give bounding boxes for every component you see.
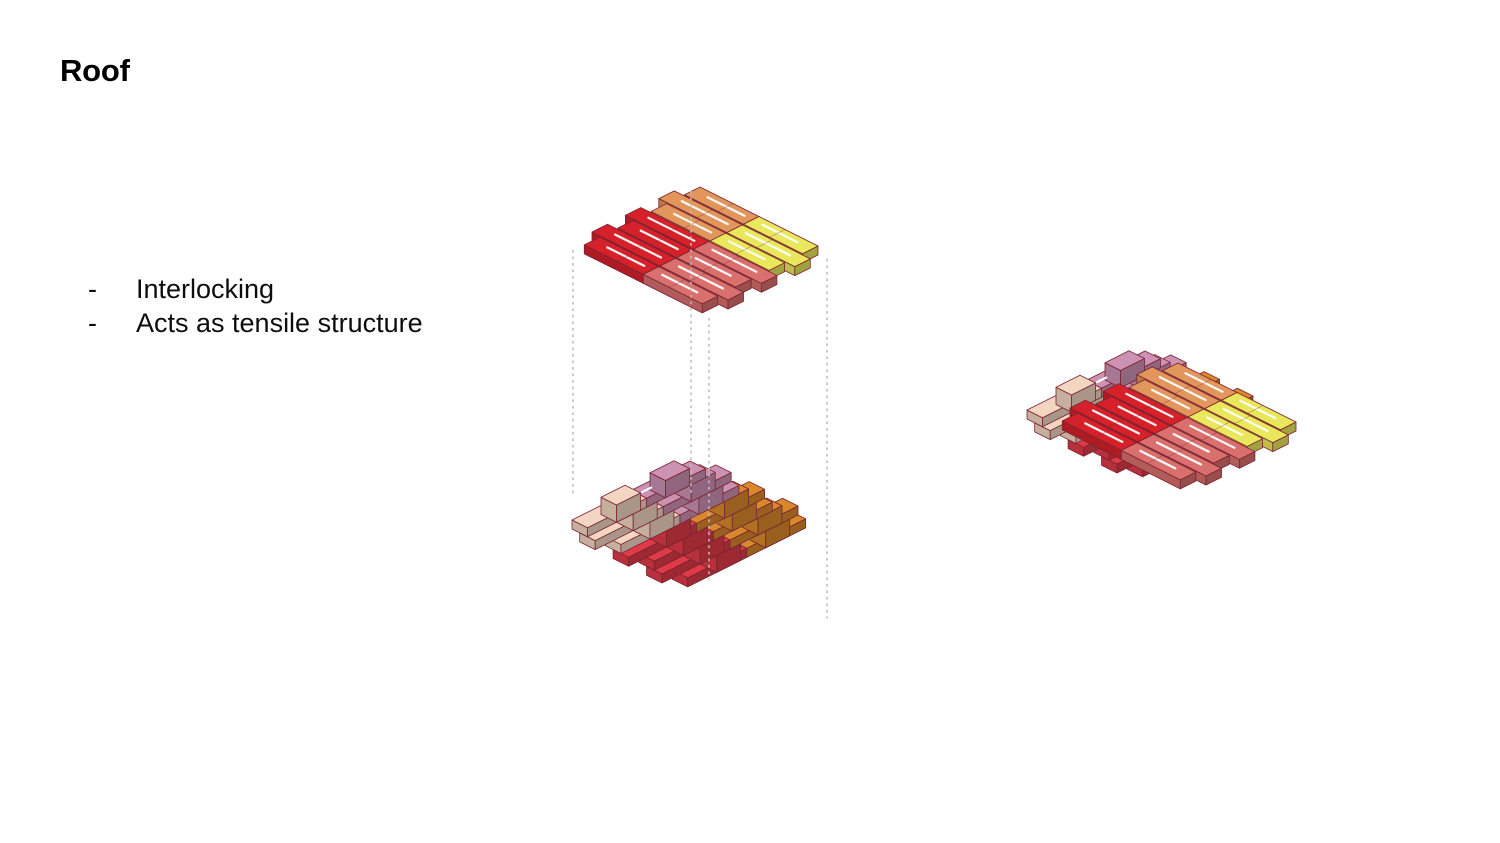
plank-segment <box>1121 443 1196 489</box>
joist-segment-front-face <box>572 520 588 537</box>
plank-seam <box>1108 419 1124 427</box>
interlock-tooth-end-face <box>725 489 749 518</box>
plank-segment-front-face <box>1129 387 1188 426</box>
plank <box>1070 400 1222 485</box>
interlock-tooth-front-face <box>743 510 759 535</box>
plank-segment-top-face <box>677 250 752 287</box>
interlock-tooth-front-face <box>650 473 666 498</box>
joist-segment-end-face <box>1152 379 1220 422</box>
plank-segment-end-face <box>1205 401 1221 418</box>
interlock-tooth-end-face <box>1221 409 1245 438</box>
joist-segment <box>1102 422 1186 473</box>
joist-segment-top-face <box>1170 388 1254 430</box>
joist-segment-end-face <box>621 515 680 554</box>
interlock-tooth-end-face <box>1072 383 1096 412</box>
joist-segment-top-face <box>1127 431 1202 468</box>
plank-seam <box>1168 449 1184 457</box>
plank-highlight <box>607 247 644 265</box>
interlock-tooth-end-face <box>1213 396 1237 425</box>
plank-segment-top-face <box>1062 413 1137 450</box>
plank-segment-front-face <box>727 233 795 276</box>
upper-plank-layer <box>1062 363 1296 489</box>
joist-segment-end-face <box>595 507 663 550</box>
bullet-marker: - <box>88 306 136 340</box>
plank-highlight <box>1140 451 1175 469</box>
plank-segment <box>1222 393 1297 439</box>
joist-segment-end-face <box>647 469 706 508</box>
plank-segment-front-face <box>1103 391 1171 434</box>
interlock-tooth-end-face <box>1155 425 1179 454</box>
joist-segment <box>698 494 773 540</box>
plank-highlight <box>1174 434 1209 452</box>
interlock-tooth-front-face <box>1131 367 1147 392</box>
plank-segment <box>710 233 785 279</box>
joist-segment-front-face <box>681 516 697 533</box>
joist <box>1094 384 1228 460</box>
plank-segment-top-face <box>1222 393 1297 430</box>
joist-segment <box>1060 397 1135 443</box>
joist-segment-top-face <box>605 507 680 544</box>
plank-segment <box>1188 409 1263 455</box>
joist-segment <box>613 516 697 567</box>
plank-segment-front-face <box>710 241 769 280</box>
joist <box>1035 355 1187 440</box>
interlock-tooth-top-face <box>1138 367 1178 387</box>
plank-segment <box>1070 400 1154 451</box>
joist-highlight <box>1164 411 1173 416</box>
plank-segment-front-face <box>1188 417 1247 456</box>
plank-segment <box>643 267 718 313</box>
interlock-tooth-end-face <box>758 506 782 535</box>
plank-highlight <box>1126 394 1172 417</box>
joist-segment-end-face <box>1043 388 1102 427</box>
interlock-tooth <box>634 502 674 539</box>
interlock-tooth-top-face <box>601 485 641 505</box>
plank-seam <box>693 242 709 250</box>
joist <box>1127 401 1261 477</box>
joist-segment-top-face <box>639 524 714 561</box>
plank-segment-end-face <box>727 225 743 242</box>
joist <box>605 477 739 553</box>
joist-segment <box>639 524 714 570</box>
joist-segment-front-face <box>1102 456 1118 473</box>
joist-segment-end-face <box>697 489 765 532</box>
interlock-tooth-front-face <box>701 547 717 572</box>
plank-segment-top-face <box>693 242 777 284</box>
joist-segment-front-face <box>731 541 747 558</box>
plank-seam <box>1188 409 1204 417</box>
interlock-tooth <box>1156 425 1196 462</box>
interlock-tooth-front-face <box>1140 429 1156 454</box>
joist-segment-end-face <box>730 506 798 549</box>
joist-highlight <box>676 504 685 509</box>
joist-segment-end-face <box>1202 409 1261 448</box>
interlock-tooth-front-face <box>750 523 766 548</box>
plank-segment-front-face <box>592 232 660 275</box>
explosion-connector-lines <box>573 192 827 619</box>
interlock-tooth <box>1123 409 1163 446</box>
joist-segment <box>1170 388 1254 439</box>
bullet-list: - Interlocking - Acts as tensile structu… <box>88 272 648 340</box>
joist-highlight <box>742 538 751 543</box>
plank-segment-end-face <box>660 258 676 275</box>
joist-segment-front-face <box>1103 389 1119 406</box>
interlock-tooth-front-face <box>634 514 650 539</box>
joist-segment <box>672 541 747 587</box>
plank-segment <box>1062 413 1137 459</box>
interlock-tooth-end-face <box>699 485 723 514</box>
plank-segment <box>1155 426 1230 472</box>
plank-highlight <box>1190 426 1234 448</box>
joist-segment <box>1136 372 1220 423</box>
joist-segment <box>681 482 765 533</box>
plank-segment-end-face <box>1239 452 1255 469</box>
bullet-text: Interlocking <box>136 272 274 306</box>
plank-highlight <box>679 267 723 289</box>
plank-seam <box>769 229 785 237</box>
joist-segment-front-face <box>1136 406 1152 423</box>
joist-segment-end-face <box>1118 363 1186 406</box>
interlock-tooth-front-face <box>1105 363 1121 388</box>
plank-seam <box>1162 396 1178 404</box>
joist-highlight <box>1181 415 1199 424</box>
interlock-tooth-front-face <box>709 493 725 518</box>
plank-segment <box>685 187 760 233</box>
plank-segment-front-face <box>1096 404 1155 443</box>
joist-segment-top-face <box>613 516 697 558</box>
interlock-tooth-end-face <box>650 510 674 539</box>
joist <box>1060 367 1194 443</box>
bullet-text: Acts as tensile structure <box>136 306 423 340</box>
plank-highlight <box>662 275 697 293</box>
plank-highlight <box>1224 409 1268 431</box>
plank-segment-end-face <box>761 276 777 293</box>
plank-segment <box>1171 418 1255 469</box>
interlock-tooth <box>1205 401 1245 438</box>
plank-segment-top-face <box>584 237 659 274</box>
plank-seam <box>1175 386 1191 394</box>
interlock-tooth-end-face <box>1180 379 1204 408</box>
interlock-tooth <box>1138 367 1178 404</box>
interlock-tooth <box>676 465 716 502</box>
joist-segment <box>1094 414 1169 460</box>
interlock-tooth-front-face <box>685 539 701 564</box>
joist-segment-end-face <box>688 548 747 587</box>
interlock-tooth <box>685 527 725 564</box>
plank-segment-front-face <box>1138 442 1206 485</box>
plank-segment-top-face <box>1121 443 1196 480</box>
plank-seam <box>651 237 667 245</box>
joist-segment-end-face <box>1050 397 1118 440</box>
joist-segment-top-face <box>631 461 706 498</box>
interlock-tooth <box>701 535 741 572</box>
plank-segment <box>1129 380 1204 426</box>
plank-highlight <box>696 258 731 276</box>
plank-highlight <box>712 250 756 272</box>
joist-segment-front-face <box>672 570 688 587</box>
joist-segment-top-face <box>681 482 765 524</box>
plank-segment-end-face <box>1171 418 1187 435</box>
plank-segment-front-face <box>1121 450 1180 489</box>
plank-segment-top-face <box>1070 400 1154 442</box>
plank <box>1096 396 1230 472</box>
joist-segment-top-face <box>1103 355 1187 397</box>
plank-seam <box>757 240 773 248</box>
joist-segment-front-face <box>639 553 655 570</box>
list-item: - Interlocking <box>88 272 648 306</box>
bullet-marker: - <box>88 272 136 306</box>
plank-seam <box>630 243 646 251</box>
plank-segment-end-face <box>1206 468 1222 485</box>
plank-segment-end-face <box>693 242 709 259</box>
plank-highlight <box>1152 390 1189 409</box>
interlock-tooth-front-face <box>1123 421 1139 446</box>
plank-segment <box>1137 367 1221 418</box>
plank-segment <box>660 258 744 309</box>
interlock-tooth-top-face <box>709 481 749 501</box>
plank-segment-top-face <box>1163 363 1238 400</box>
joist-segment-end-face <box>662 540 730 583</box>
joist-segment <box>605 507 680 553</box>
interlock-tooth-front-face <box>1138 379 1154 404</box>
plank-segment <box>659 191 743 242</box>
joist-segment <box>1103 355 1187 406</box>
plank-segment-end-face <box>1180 472 1196 489</box>
interlock-tooth-end-face <box>766 519 790 548</box>
joist-segment <box>1035 389 1119 440</box>
joist-segment-top-face <box>1136 372 1220 414</box>
plank-segment <box>618 220 693 266</box>
plank-seam <box>1155 426 1171 434</box>
assembled-roof-diagram <box>1027 351 1296 489</box>
plank-segment-top-face <box>1096 396 1171 433</box>
plank-segment-top-face <box>651 204 726 241</box>
interlock-tooth-top-face <box>1131 355 1171 375</box>
interlock-tooth <box>1073 384 1113 421</box>
plank-highlight <box>682 201 728 224</box>
plank-highlight <box>615 235 661 258</box>
plank-seam <box>703 263 719 271</box>
interlock-tooth-top-face <box>1205 401 1245 421</box>
joist <box>1027 351 1161 427</box>
joist-segment-end-face <box>1143 438 1202 477</box>
diagram-area <box>0 0 1500 843</box>
interlock-tooth <box>1140 417 1180 454</box>
joist-segment-front-face <box>647 566 663 583</box>
joist-segment-front-face <box>1127 460 1143 477</box>
interlock-tooth <box>743 498 783 535</box>
interlock-tooth-top-face <box>750 511 790 531</box>
plank-segment-front-face <box>651 211 710 250</box>
joist-segment-end-face <box>713 502 772 541</box>
interlock-tooth-top-face <box>701 535 741 555</box>
joist-segment-top-face <box>672 541 747 578</box>
interlock-tooth-front-face <box>1106 412 1122 437</box>
joist-highlight <box>1147 398 1165 407</box>
interlock-tooth-front-face <box>1164 383 1180 408</box>
plank-segment-end-face <box>1247 439 1263 456</box>
interlock-tooth <box>709 481 749 518</box>
interlock-tooth-top-face <box>634 502 674 522</box>
joist-segment-end-face <box>663 473 731 516</box>
plank-segment-end-face <box>1222 393 1238 410</box>
interlock-tooth-top-face <box>1164 371 1204 391</box>
plank-segment <box>592 224 676 275</box>
plank-segment-front-face <box>1137 375 1205 418</box>
plank-seam <box>1095 430 1111 438</box>
plank-seam <box>1235 416 1251 424</box>
interlock-tooth-front-face <box>668 531 684 556</box>
interlock-tooth-top-face <box>1073 384 1113 404</box>
plank-seam <box>1201 433 1217 441</box>
plank-seam <box>660 258 676 266</box>
joist-segment-front-face <box>1035 423 1051 440</box>
joist-segment-top-face <box>1086 351 1161 388</box>
interlock-tooth-top-face <box>1105 351 1145 371</box>
plank-highlight <box>1119 407 1156 426</box>
joist-segment-front-face <box>1027 410 1043 427</box>
plank-segment-end-face <box>1188 409 1204 426</box>
interlock-tooth-end-face <box>1187 392 1211 421</box>
plank-segment-top-face <box>1155 426 1230 463</box>
joist-segment <box>580 499 664 550</box>
plank-seam <box>744 217 760 225</box>
plank-segment <box>1138 434 1222 485</box>
plank-segment-top-face <box>618 220 693 257</box>
joist-segment-end-face <box>1109 422 1168 461</box>
interlock-tooth-front-face <box>676 477 692 502</box>
plank-segment-end-face <box>1273 435 1289 452</box>
interlock-tooth-front-face <box>1198 400 1214 425</box>
plank-segment <box>677 250 752 296</box>
joist-segment-front-face <box>631 491 647 508</box>
plank-segment-top-face <box>1137 367 1221 409</box>
joist-segment-front-face <box>1153 414 1169 431</box>
joist-highlight <box>642 488 651 493</box>
interlock-tooth <box>668 519 708 556</box>
joist-segment <box>631 461 706 507</box>
joist-segment-top-face <box>1102 422 1186 464</box>
interlock-tooth-top-face <box>1156 425 1196 445</box>
interlock-tooth-front-face <box>1089 404 1105 429</box>
plank-segment-top-face <box>592 224 676 266</box>
joist-segment-top-face <box>1094 414 1169 451</box>
interlock-tooth-end-face <box>700 535 724 564</box>
interlock-tooth-top-face <box>676 465 716 485</box>
joist <box>1068 371 1220 456</box>
joist-highlight <box>1097 378 1106 383</box>
plank-seam <box>697 210 713 218</box>
joist-segment-front-face <box>664 507 680 524</box>
interlock-tooth-front-face <box>1056 387 1072 412</box>
interlock-tooth-front-face <box>618 506 634 531</box>
interlock-tooth-front-face <box>683 489 699 514</box>
plank-segment-front-face <box>643 274 702 313</box>
joist-segment <box>1086 351 1161 397</box>
plank-segment-front-face <box>677 258 736 297</box>
list-item: - Acts as tensile structure <box>88 306 648 340</box>
plank-seam <box>1147 456 1163 464</box>
joist-segment-top-face <box>698 494 773 531</box>
joist-segment-front-face <box>580 533 596 550</box>
interlock-tooth-top-face <box>1106 400 1146 420</box>
plank-seam <box>1121 443 1137 451</box>
plank-seam <box>710 233 726 241</box>
interlock-tooth-end-face <box>1172 433 1196 462</box>
joist-segment-front-face <box>698 524 714 541</box>
plank-seam <box>684 220 700 228</box>
joist-segment-end-face <box>629 523 697 566</box>
plank-segment-front-face <box>693 249 761 292</box>
joist-segment-end-face <box>1076 405 1135 444</box>
joist <box>572 461 706 537</box>
plank-seam <box>723 257 739 265</box>
joist-segment-front-face <box>1170 422 1186 439</box>
interlock-tooth <box>618 494 658 531</box>
plank-segment-front-face <box>1155 434 1214 473</box>
plank-segment-top-face <box>744 217 819 254</box>
joist-highlight <box>692 508 710 517</box>
joist-segment-end-face <box>1135 375 1194 414</box>
joist-segment-end-face <box>680 485 739 524</box>
plank-segment-front-face <box>1171 425 1239 468</box>
plank <box>1163 363 1297 439</box>
plank-segment-front-face <box>625 215 693 258</box>
interlock-tooth-top-face <box>668 519 708 539</box>
plank-seam <box>727 225 743 233</box>
interlock-tooth-top-face <box>650 461 690 481</box>
joist-segment-end-face <box>1117 430 1185 473</box>
plank-segment-end-face <box>736 279 752 296</box>
joist-segment <box>1027 381 1102 427</box>
plank-segment-front-face <box>744 224 803 263</box>
plank-seam <box>669 280 685 288</box>
joist-segment-end-face <box>1185 396 1253 439</box>
plank-segment-front-face <box>660 266 728 309</box>
joist-segment-end-face <box>1102 359 1161 398</box>
interlock-tooth <box>1056 375 1096 412</box>
interlock-tooth-end-face <box>683 526 707 555</box>
interlock-tooth-top-face <box>1089 392 1129 412</box>
plank-segment-top-face <box>1188 409 1263 446</box>
plank-segment-end-face <box>1214 455 1230 472</box>
joist-highlight <box>659 491 677 500</box>
plank-highlight <box>641 231 678 249</box>
plank <box>625 208 777 293</box>
interlock-tooth-top-face <box>743 498 783 518</box>
plank-segment-top-face <box>1205 401 1289 443</box>
interlock-tooth-end-face <box>1146 362 1170 391</box>
plank-highlight <box>1185 373 1222 392</box>
exploded-assembly-diagram <box>572 187 818 587</box>
plank-segment-front-face <box>1062 421 1121 460</box>
interlock-tooth-end-face <box>667 518 691 547</box>
plank-seam <box>617 254 633 262</box>
joist-segment <box>572 491 647 537</box>
joist-segment-top-face <box>731 511 806 548</box>
plank-seam <box>718 204 734 212</box>
plank-seam <box>690 273 706 281</box>
joist <box>1102 388 1254 473</box>
joist-highlight <box>1114 381 1132 390</box>
interlock-tooth-end-face <box>732 502 756 531</box>
plank <box>685 187 819 263</box>
interlock-tooth-front-face <box>1073 396 1089 421</box>
interlock-tooth-top-face <box>685 527 725 547</box>
joist-segment-end-face <box>1168 392 1227 431</box>
joist-segment-top-face <box>1060 397 1135 434</box>
joist-segment-end-face <box>1084 413 1152 456</box>
